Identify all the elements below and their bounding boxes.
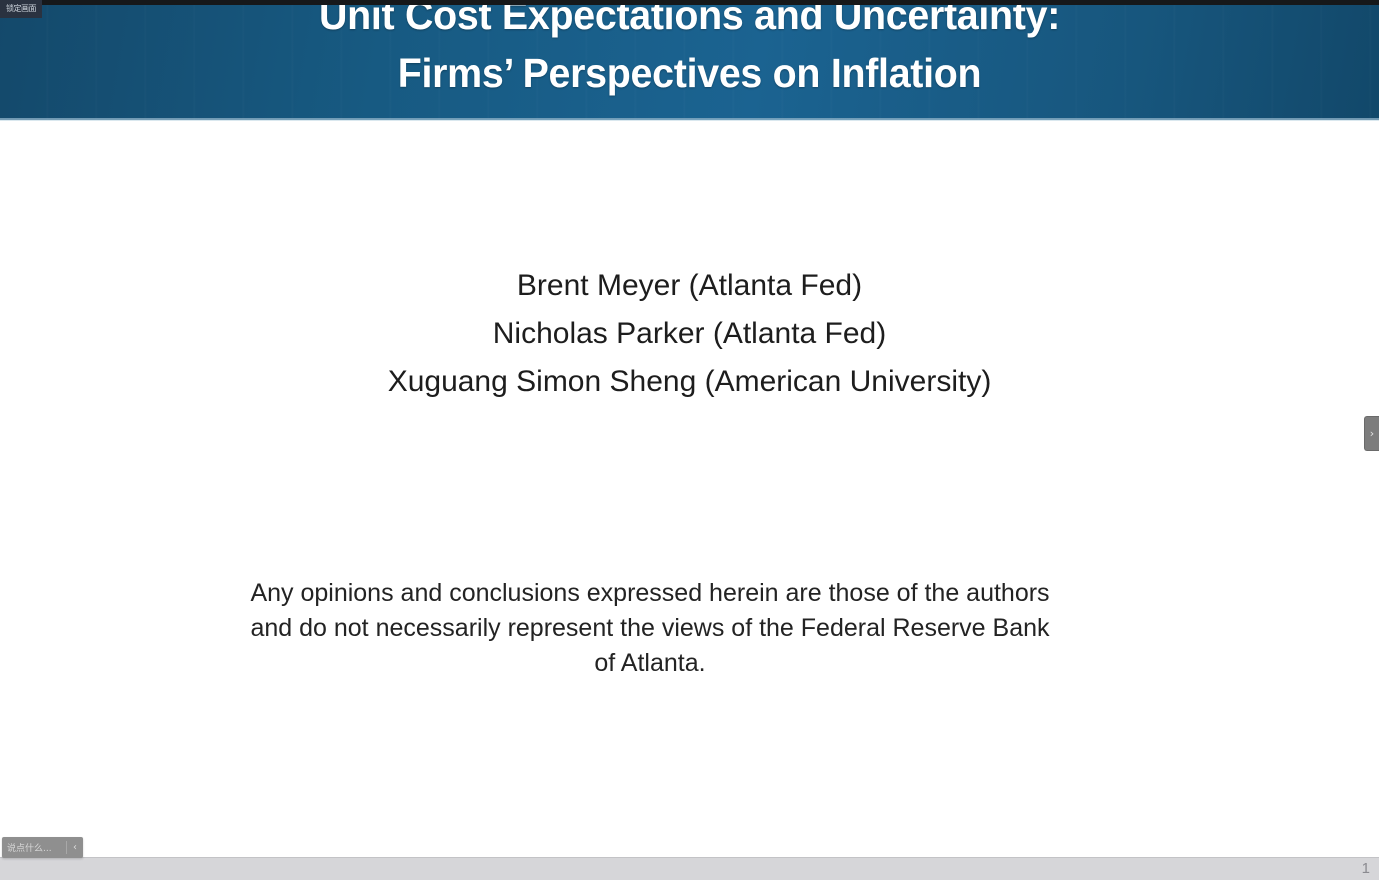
- author-line: Brent Meyer (Atlanta Fed): [0, 262, 1379, 310]
- chevron-left-icon[interactable]: ‹: [67, 837, 83, 858]
- slide-title: Unit Cost Expectations and Uncertainty: …: [28, 0, 1352, 102]
- author-line: Xuguang Simon Sheng (American University…: [0, 358, 1379, 406]
- status-bar: 1: [0, 857, 1379, 880]
- title-band-divider: [0, 118, 1379, 121]
- chevron-right-icon[interactable]: ›: [1364, 416, 1379, 451]
- screen-share-viewport: Unit Cost Expectations and Uncertainty: …: [0, 0, 1379, 880]
- disclaimer-text: Any opinions and conclusions expressed h…: [250, 576, 1050, 681]
- slide-title-band: Unit Cost Expectations and Uncertainty: …: [0, 0, 1379, 120]
- lock-screen-badge[interactable]: 锁定画面: [0, 0, 42, 18]
- author-line: Nicholas Parker (Atlanta Fed): [0, 310, 1379, 358]
- presentation-slide[interactable]: Unit Cost Expectations and Uncertainty: …: [0, 0, 1379, 858]
- chat-bar[interactable]: 说点什么... ‹: [2, 837, 83, 858]
- top-letterbox-strip: [0, 0, 1379, 5]
- chat-input[interactable]: 说点什么...: [2, 837, 66, 858]
- page-number: 1: [1362, 858, 1379, 880]
- author-list: Brent Meyer (Atlanta Fed) Nicholas Parke…: [0, 262, 1379, 406]
